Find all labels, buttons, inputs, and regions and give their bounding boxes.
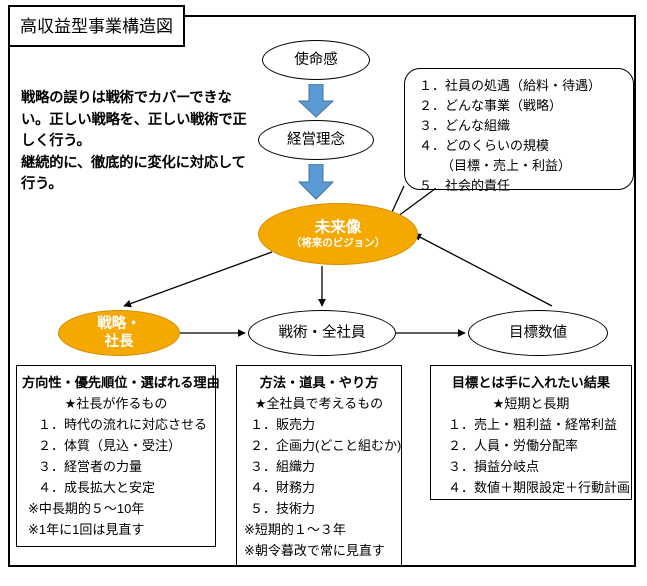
node-tactics: 戦術・全社員	[248, 310, 396, 356]
detail-box-item: １．時代の流れに対応させる	[22, 414, 210, 435]
detail-box-note: ※朝令暮改で常に見直す	[242, 540, 396, 561]
block-arrow-down-icon	[297, 84, 335, 118]
node-vision-label: 未来像	[315, 219, 362, 237]
page-title: 高収益型事業構造図	[20, 18, 173, 35]
callout-item: ２．どんな事業（戦略）	[419, 96, 627, 116]
detail-box-title: 目標とは手に入れたい結果	[436, 372, 626, 393]
detail-box-item: ２．人員・労働分配率	[436, 435, 626, 456]
detail-box-method: 方法・道具・やり方 ★全社員で考えるもの １．販売力 ２．企画力(どこと組むか)…	[236, 365, 402, 566]
detail-box-title: 方向性・優先順位・選ばれる理由	[22, 372, 210, 393]
detail-box-direction: 方向性・優先順位・選ばれる理由 ★社長が作るもの １．時代の流れに対応させる ２…	[16, 365, 216, 547]
node-vision-sublabel: （将来のビジョン）	[291, 237, 386, 249]
detail-box-item: ４．数値＋期限設定＋行動計画	[436, 477, 626, 498]
detail-box-item: ５．技術力	[242, 498, 396, 519]
diagram-canvas: 高収益型事業構造図 戦略の誤りは戦術でカバーできない。正しい戦略を、正しい戦術で…	[0, 0, 647, 586]
detail-box-item: １．売上・粗利益・経常利益	[436, 414, 626, 435]
block-arrow-down-icon	[297, 164, 335, 200]
node-philosophy: 経営理念	[258, 120, 374, 160]
detail-box-item: ２．体質（見込・受注）	[22, 435, 210, 456]
intro-paragraph: 戦略の誤りは戦術でカバーできない。正しい戦略を、正しい戦術で正しく行う。 継続的…	[21, 88, 249, 196]
callout-item: ３．どんな組織	[419, 116, 627, 136]
detail-box-goal: 目標とは手に入れたい結果 ★短期と長期 １．売上・粗利益・経常利益 ２．人員・労…	[430, 365, 632, 500]
node-targets: 目標数値	[468, 310, 608, 356]
detail-box-title: 方法・道具・やり方	[242, 372, 396, 393]
node-strategy: 戦略・ 社長	[58, 310, 180, 356]
detail-box-item: ３．経営者の力量	[22, 456, 210, 477]
node-philosophy-label: 経営理念	[287, 132, 345, 149]
detail-box-item: ３．組織力	[242, 456, 396, 477]
callout-item: ４．どのくらいの規模	[419, 136, 627, 156]
detail-box-item: ２．企画力(どこと組むか)	[242, 435, 396, 456]
diagram-title-box: 高収益型事業構造図	[8, 5, 185, 47]
node-mission-label: 使命感	[294, 52, 338, 69]
node-strategy-label: 戦略・ 社長	[97, 315, 141, 351]
node-vision: 未来像 （将来のビジョン）	[258, 203, 418, 265]
detail-box-subtitle: ★全社員で考えるもの	[242, 393, 396, 414]
node-tactics-label: 戦術・全社員	[279, 325, 366, 342]
node-mission: 使命感	[262, 40, 370, 80]
node-targets-label: 目標数値	[509, 325, 567, 342]
detail-box-item: １．販売力	[242, 414, 396, 435]
callout-box-vision-criteria: １．社員の処遇（給料・待遇） ２．どんな事業（戦略） ３．どんな組織 ４．どのく…	[404, 68, 634, 190]
detail-box-note: ※短期的１～３年	[242, 519, 396, 540]
callout-item: ５．社会的責任	[419, 176, 627, 196]
detail-box-item: ４．財務力	[242, 477, 396, 498]
detail-box-item: ３．損益分岐点	[436, 456, 626, 477]
detail-box-subtitle: ★短期と長期	[436, 393, 626, 414]
detail-box-subtitle: ★社長が作るもの	[22, 393, 210, 414]
callout-item-continuation: （目標・売上・利益）	[419, 156, 627, 176]
callout-item: １．社員の処遇（給料・待遇）	[419, 76, 627, 96]
detail-box-item: ４．成長拡大と安定	[22, 477, 210, 498]
detail-box-note: ※中長期的５～10年	[22, 498, 210, 519]
detail-box-note: ※1年に1回は見直す	[22, 519, 210, 540]
